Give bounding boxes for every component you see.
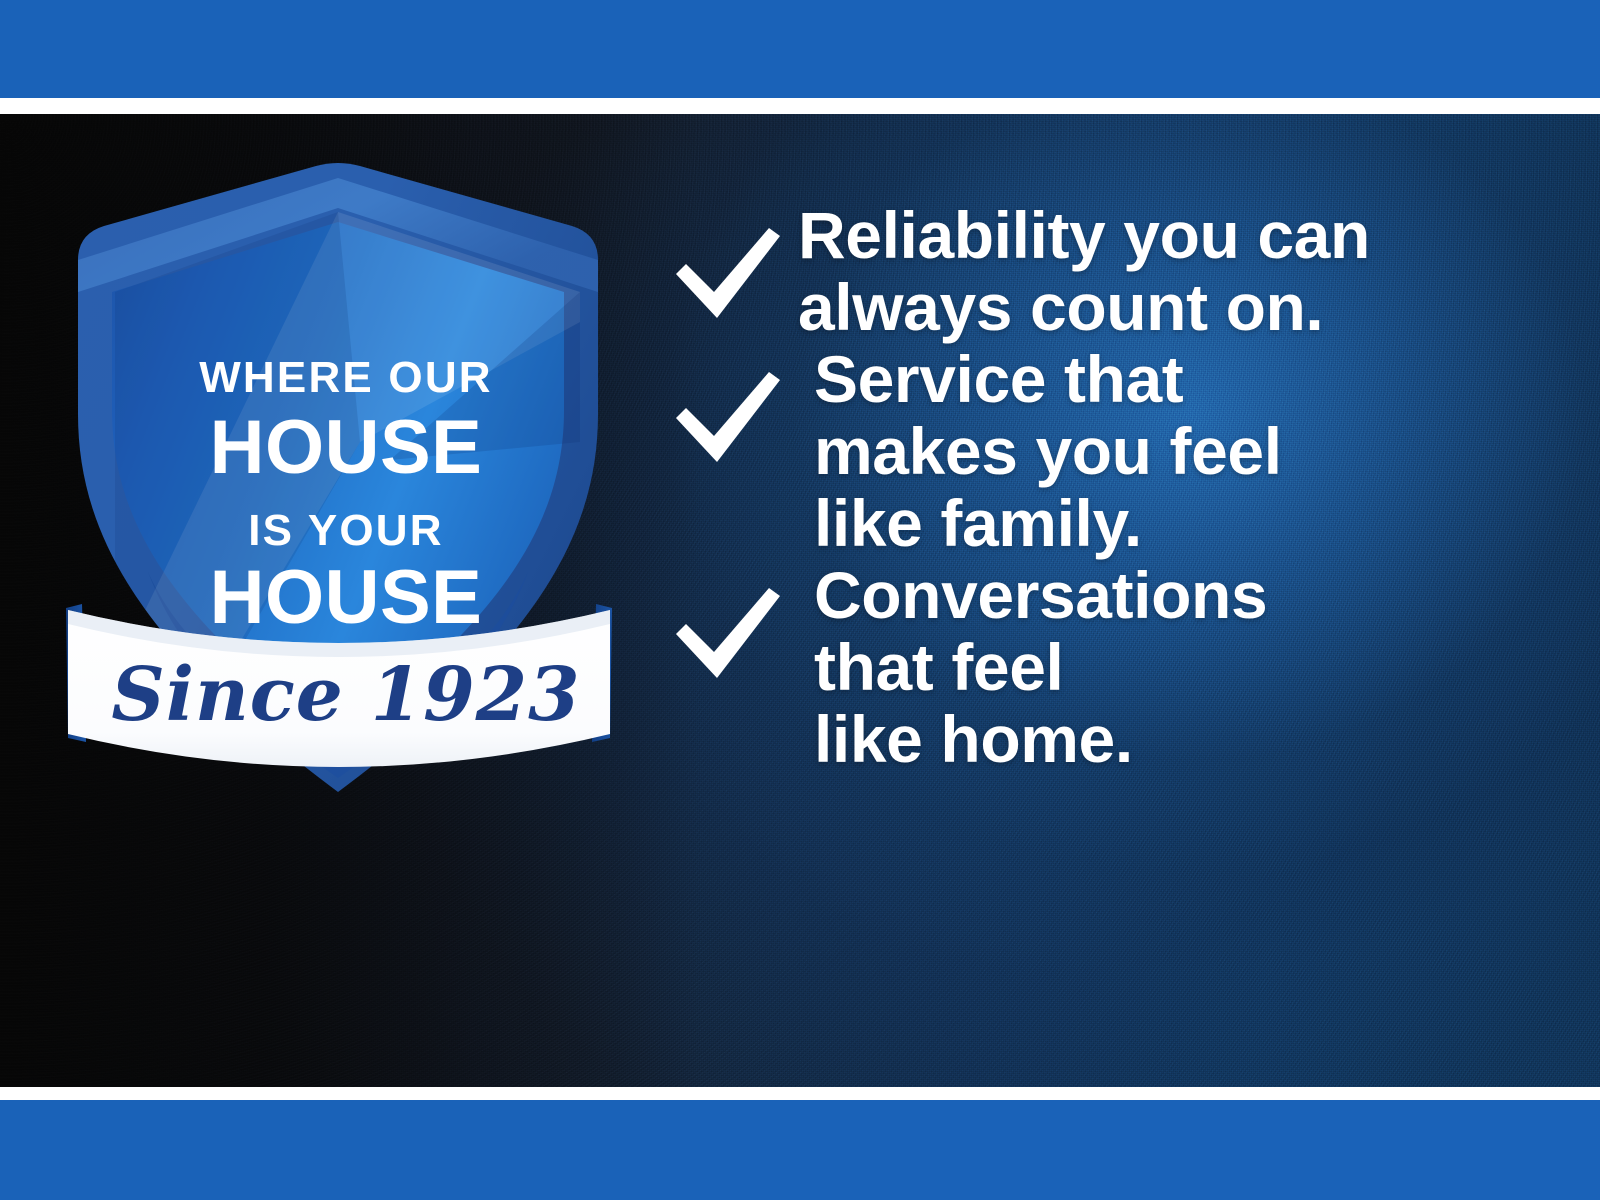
benefit-text: Reliability you can always count on. xyxy=(796,200,1370,344)
bottom-brand-bar xyxy=(0,1100,1600,1200)
benefit-item: Reliability you can always count on. xyxy=(670,200,1570,344)
top-brand-bar xyxy=(0,0,1600,98)
logo-line-3: IS YOUR xyxy=(248,506,444,555)
logo-line-2: HOUSE xyxy=(210,405,483,490)
promo-banner-canvas: WHERE OUR HOUSE IS YOUR HOUSE Since 1923 xyxy=(0,0,1600,1200)
benefit-text: Conversations that feel like home. xyxy=(796,560,1267,776)
logo-line-4: HOUSE xyxy=(210,555,483,640)
benefit-item: Service that makes you feel like family. xyxy=(670,344,1570,560)
benefit-text: Service that makes you feel like family. xyxy=(796,344,1282,560)
logo-line-1: WHERE OUR xyxy=(199,353,493,402)
logo-banner-text: Since 1923 xyxy=(111,652,580,738)
benefits-list: Reliability you can always count on. Ser… xyxy=(670,200,1570,776)
company-logo: WHERE OUR HOUSE IS YOUR HOUSE Since 1923 xyxy=(60,142,620,822)
benefit-item: Conversations that feel like home. xyxy=(670,560,1570,776)
checkmark-icon xyxy=(670,560,796,686)
top-white-divider xyxy=(0,98,1600,114)
checkmark-icon xyxy=(670,344,796,470)
bottom-white-divider xyxy=(0,1087,1600,1100)
checkmark-icon xyxy=(670,200,796,326)
